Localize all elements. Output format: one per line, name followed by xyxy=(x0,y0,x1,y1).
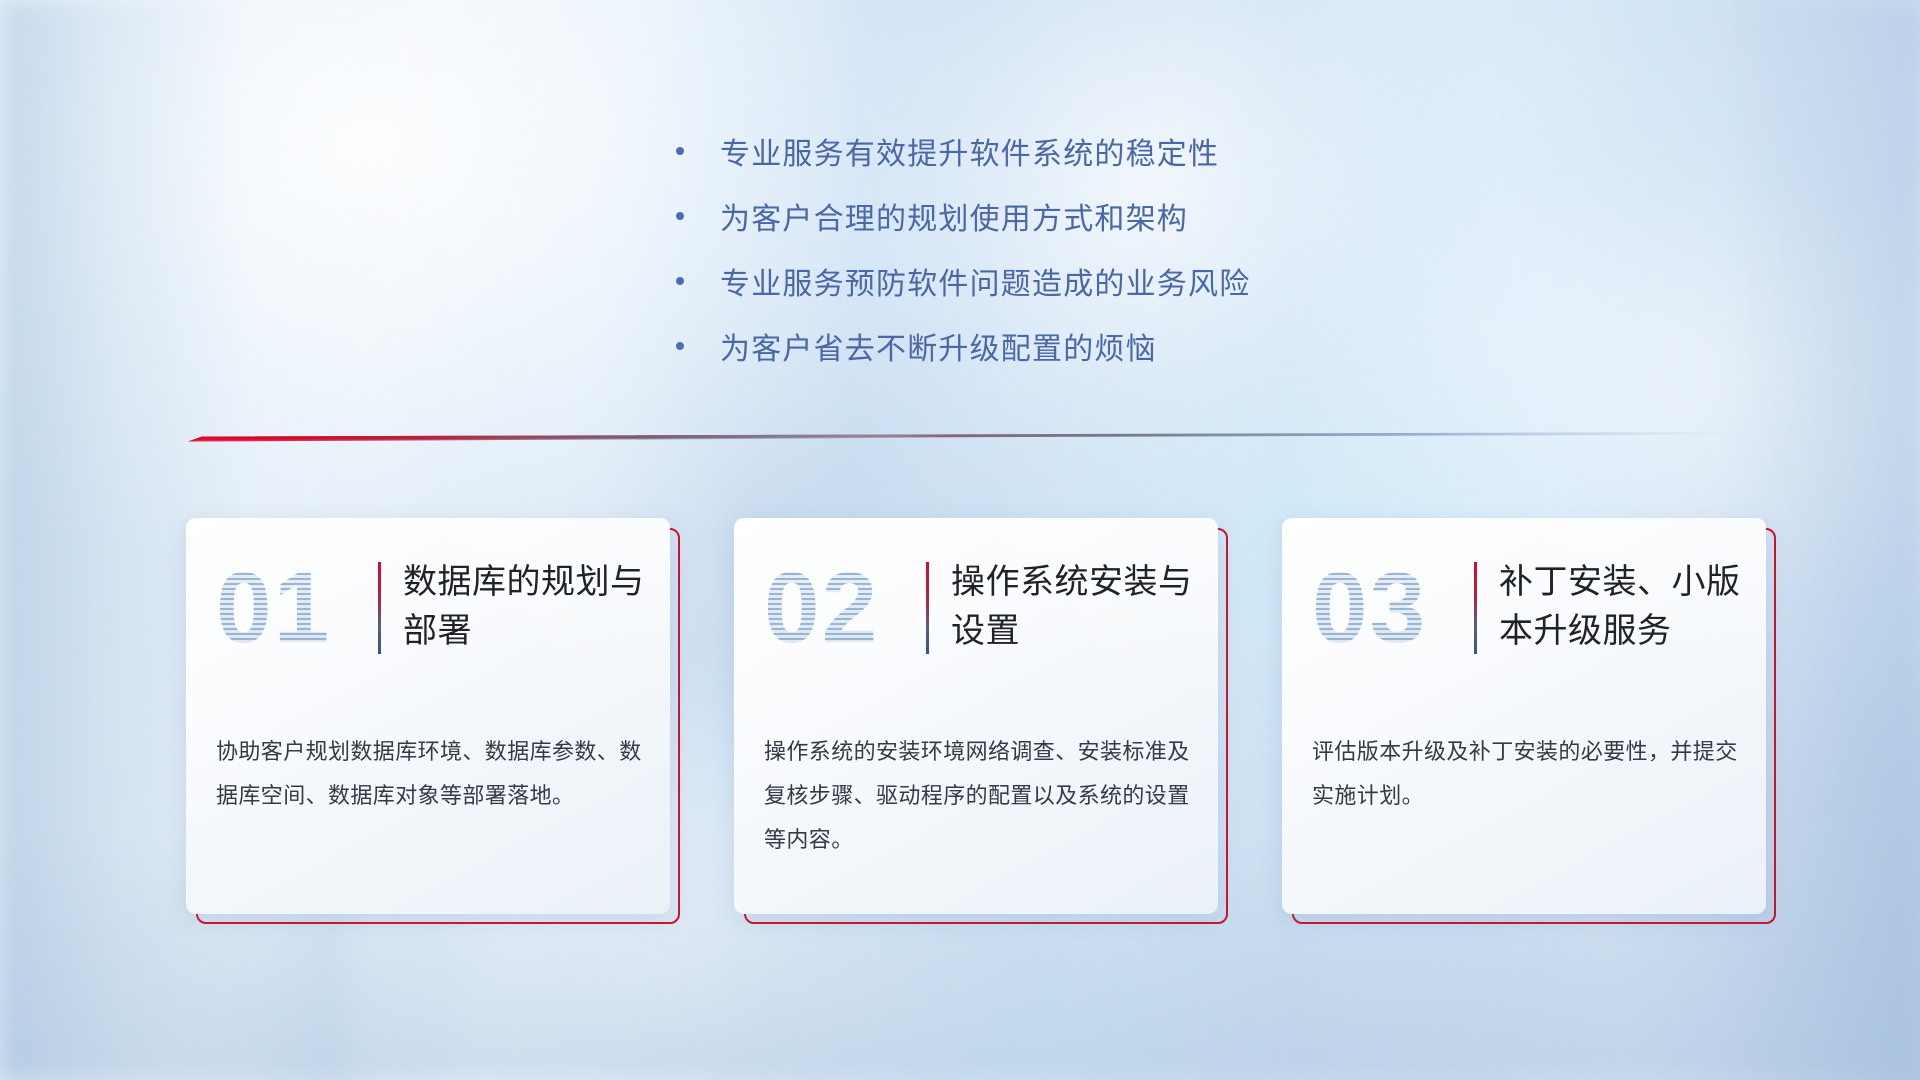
card-header: 03 补丁安装、小版本升级服务 xyxy=(1282,556,1766,660)
card-title-rule xyxy=(1474,562,1477,654)
benefit-item: 为客户省去不断升级配置的烦恼 xyxy=(676,313,1250,378)
bullet-dot-icon xyxy=(676,147,684,155)
service-cards: 01 数据库的规划与部署 协助客户规划数据库环境、数据库参数、数据库空间、数据库… xyxy=(186,518,1772,918)
card-description: 评估版本升级及补丁安装的必要性，并提交实施计划。 xyxy=(1312,730,1738,818)
benefit-item: 为客户合理的规划使用方式和架构 xyxy=(676,183,1250,248)
service-card-02[interactable]: 02 操作系统安装与设置 操作系统的安装环境网络调查、安装标准及复核步骤、驱动程… xyxy=(734,518,1224,918)
benefit-text: 为客户省去不断升级配置的烦恼 xyxy=(720,324,1157,368)
benefit-item: 专业服务预防软件问题造成的业务风险 xyxy=(676,248,1250,313)
benefits-list: 专业服务有效提升软件系统的稳定性 为客户合理的规划使用方式和架构 专业服务预防软… xyxy=(676,118,1250,378)
card-title-rule xyxy=(926,562,929,654)
benefit-text: 专业服务预防软件问题造成的业务风险 xyxy=(720,259,1250,303)
card-description: 操作系统的安装环境网络调查、安装标准及复核步骤、驱动程序的配置以及系统的设置等内… xyxy=(764,730,1190,862)
service-card-03[interactable]: 03 补丁安装、小版本升级服务 评估版本升级及补丁安装的必要性，并提交实施计划。 xyxy=(1282,518,1772,918)
bullet-dot-icon xyxy=(676,277,684,285)
card-title: 补丁安装、小版本升级服务 xyxy=(1499,556,1742,656)
card-number: 02 xyxy=(764,556,922,660)
card-header: 02 操作系统安装与设置 xyxy=(734,556,1218,660)
card-number: 03 xyxy=(1312,556,1470,660)
card-header: 01 数据库的规划与部署 xyxy=(186,556,670,660)
card-title: 操作系统安装与设置 xyxy=(951,556,1194,656)
service-card-01[interactable]: 01 数据库的规划与部署 协助客户规划数据库环境、数据库参数、数据库空间、数据库… xyxy=(186,518,676,918)
benefit-text: 专业服务有效提升软件系统的稳定性 xyxy=(720,129,1219,173)
section-divider xyxy=(188,430,1738,446)
card-surface: 02 操作系统安装与设置 操作系统的安装环境网络调查、安装标准及复核步骤、驱动程… xyxy=(734,518,1218,914)
bullet-dot-icon xyxy=(676,212,684,220)
card-title: 数据库的规划与部署 xyxy=(403,556,646,656)
benefit-text: 为客户合理的规划使用方式和架构 xyxy=(720,194,1188,238)
card-title-rule xyxy=(378,562,381,654)
benefit-item: 专业服务有效提升软件系统的稳定性 xyxy=(676,118,1250,183)
card-number: 01 xyxy=(216,556,374,660)
divider-rule-icon xyxy=(188,430,1738,446)
card-description: 协助客户规划数据库环境、数据库参数、数据库空间、数据库对象等部署落地。 xyxy=(216,730,642,818)
card-surface: 01 数据库的规划与部署 协助客户规划数据库环境、数据库参数、数据库空间、数据库… xyxy=(186,518,670,914)
bullet-dot-icon xyxy=(676,342,684,350)
card-surface: 03 补丁安装、小版本升级服务 评估版本升级及补丁安装的必要性，并提交实施计划。 xyxy=(1282,518,1766,914)
